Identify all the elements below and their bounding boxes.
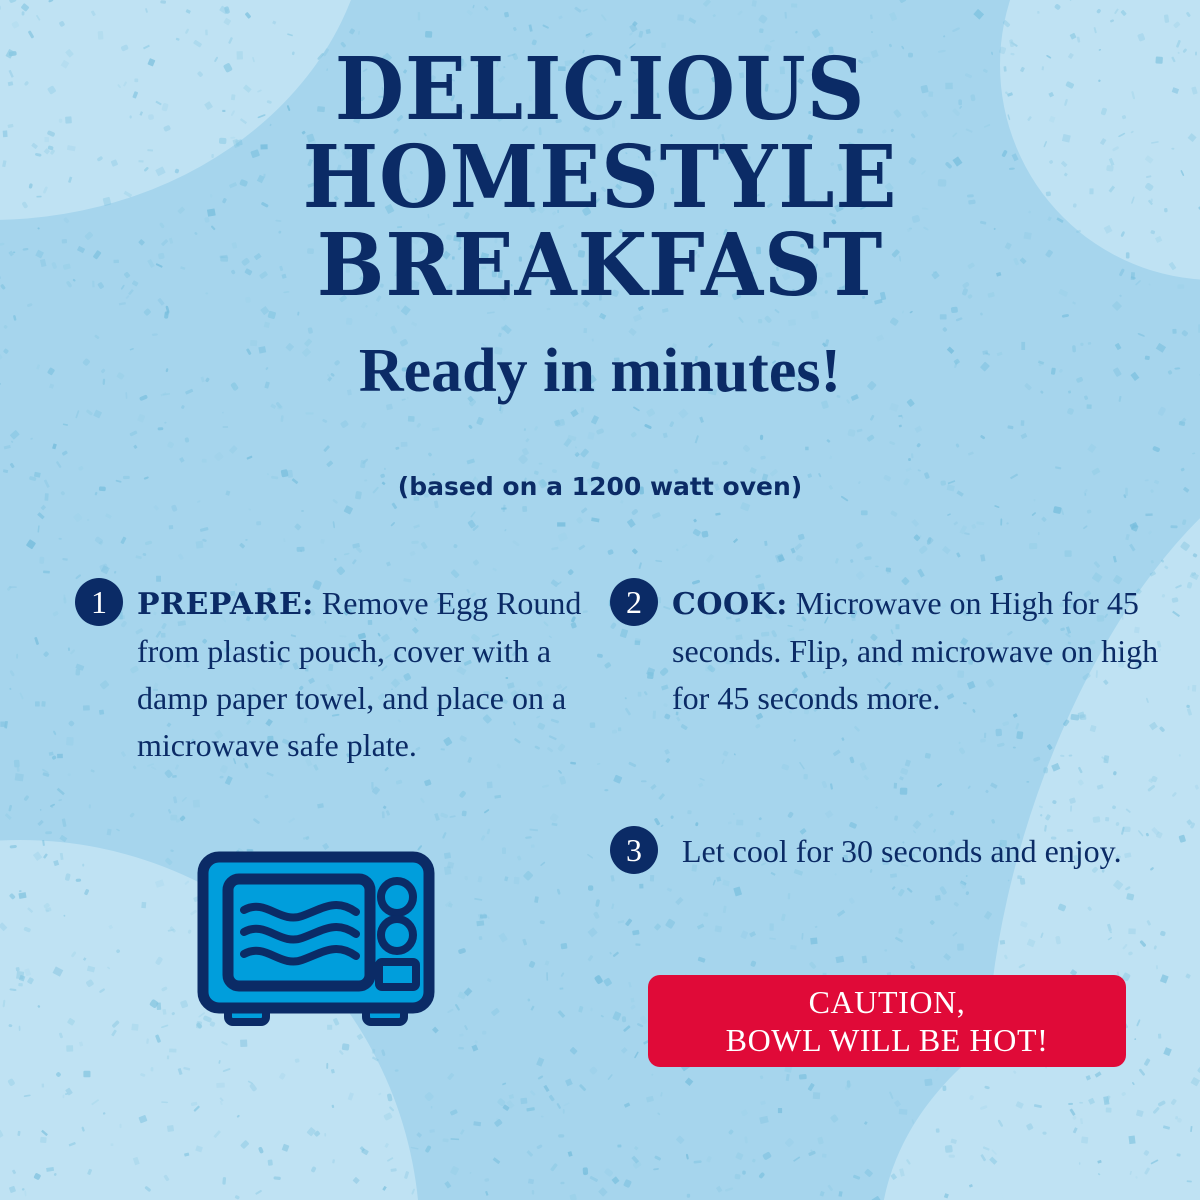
- caution-line-1: CAUTION,: [809, 983, 966, 1021]
- step-lead-1: PREPARE:: [137, 587, 314, 622]
- step-number-badge-1: 1: [75, 578, 123, 626]
- headline-line-3: BREAKFAST: [42, 222, 1158, 310]
- step-number-badge-2: 2: [610, 578, 658, 626]
- step-1: 1 PREPARE: Remove Egg Round from plastic…: [75, 578, 615, 769]
- microwave-icon: [196, 850, 436, 1035]
- poster-content: DELICIOUS HOMESTYLE BREAKFAST Ready in m…: [0, 0, 1200, 1200]
- step-number-badge-3: 3: [610, 826, 658, 874]
- tagline: Ready in minutes!: [0, 338, 1200, 404]
- step-text-1: PREPARE: Remove Egg Round from plastic p…: [137, 578, 615, 769]
- step-body-3: Let cool for 30 seconds and enjoy.: [682, 833, 1122, 869]
- headline-line-2: HOMESTYLE: [42, 134, 1158, 222]
- step-2: 2 COOK: Microwave on High for 45 seconds…: [610, 578, 1180, 722]
- headline-line-1: DELICIOUS: [42, 46, 1158, 134]
- page-title: DELICIOUS HOMESTYLE BREAKFAST: [0, 46, 1200, 310]
- caution-line-2: BOWL WILL BE HOT!: [726, 1021, 1049, 1059]
- step-lead-2: COOK:: [672, 587, 788, 622]
- step-text-2: COOK: Microwave on High for 45 seconds. …: [672, 578, 1180, 722]
- caution-banner: CAUTION, BOWL WILL BE HOT!: [648, 975, 1126, 1067]
- step-text-3: Let cool for 30 seconds and enjoy.: [682, 826, 1122, 875]
- step-3: 3 Let cool for 30 seconds and enjoy.: [610, 826, 1180, 875]
- wattage-note: (based on a 1200 watt oven): [0, 472, 1200, 501]
